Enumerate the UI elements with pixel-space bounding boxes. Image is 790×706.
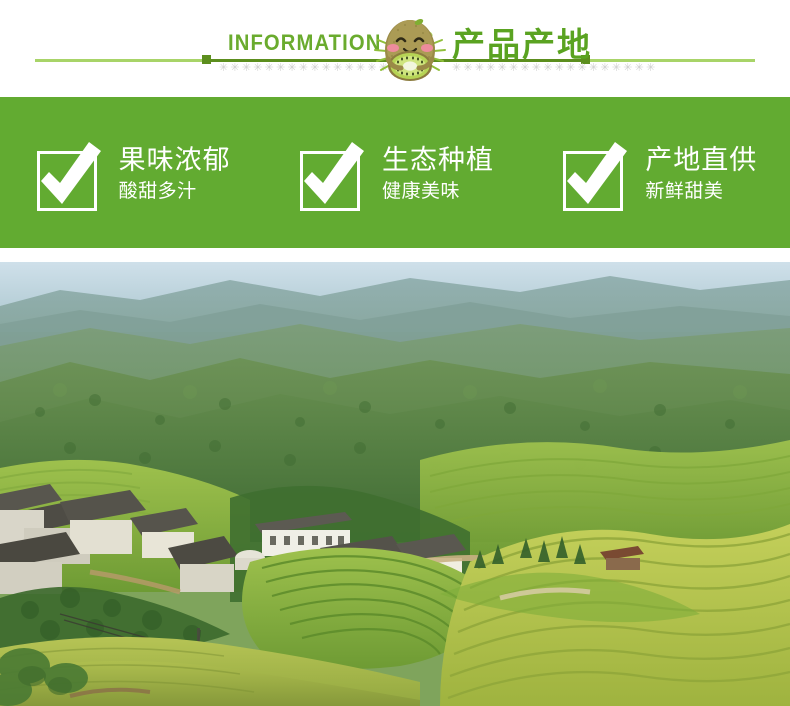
- page-header: INFORMATION 产品产地 ✳✳✳✳✳✳✳✳✳✳✳✳✳✳✳✳✳✳ ✳✳✳✳…: [0, 0, 790, 97]
- feature-list: 果味浓郁 酸甜多汁 生态种植 健康美味: [0, 97, 790, 248]
- header-rule-node-left: [202, 55, 211, 64]
- feature-subtitle-2: 健康美味: [382, 179, 494, 205]
- feature-title-2: 生态种植: [382, 144, 494, 177]
- check-square-icon: [559, 139, 631, 211]
- feature-banner: 果味浓郁 酸甜多汁 生态种植 健康美味: [0, 97, 790, 248]
- feature-item-1: 果味浓郁 酸甜多汁: [0, 135, 263, 211]
- feature-text-2: 生态种植 健康美味: [382, 144, 494, 205]
- kiwi-mascot-icon: [372, 4, 448, 92]
- feature-subtitle-1: 酸甜多汁: [119, 179, 231, 205]
- feature-item-2: 生态种植 健康美味: [263, 135, 526, 211]
- check-square-icon: [33, 139, 105, 211]
- feature-item-3: 产地直供 新鲜甜美: [527, 135, 790, 211]
- feature-text-3: 产地直供 新鲜甜美: [645, 144, 757, 205]
- terraced-rice-fields-landscape-photo: [0, 262, 790, 706]
- feature-subtitle-3: 新鲜甜美: [645, 179, 757, 205]
- check-square-icon: [296, 139, 368, 211]
- feature-text-1: 果味浓郁 酸甜多汁: [119, 144, 231, 205]
- feature-title-1: 果味浓郁: [119, 144, 231, 177]
- header-eyebrow-text: INFORMATION: [228, 30, 381, 56]
- feature-title-3: 产地直供: [645, 144, 757, 177]
- decorative-stars-right: ✳✳✳✳✳✳✳✳✳✳✳✳✳✳✳✳✳✳: [452, 61, 658, 75]
- header-rule-light-left: [35, 59, 205, 62]
- page-title: 产品产地: [452, 18, 592, 66]
